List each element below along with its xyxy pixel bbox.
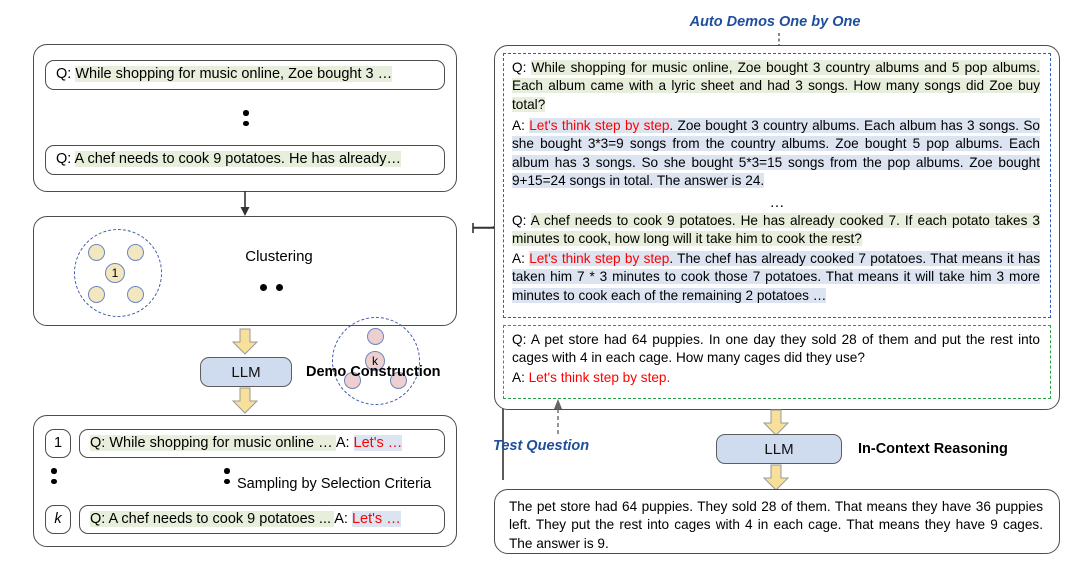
sampled-demos-ellipsis-mid [224,468,230,484]
cluster-1-node-a [88,244,105,261]
arrow-test-question-label [552,398,566,434]
demo-construction-label: Demo Construction [306,364,441,380]
test-question-dashed-box: Q: A pet store had 64 puppies. In one da… [503,325,1051,399]
demo1-question: Q: While shopping for music online, Zoe … [512,59,1040,114]
demos-ellipsis: … [504,194,1052,211]
test-question-label: Test Question [493,438,589,454]
question-pool-panel: Q: While shopping for music online, Zoe … [33,44,457,192]
sampled-demos-panel: 1 Q: While shopping for music online … A… [33,415,457,547]
sampling-label: Sampling by Selection Criteria [237,476,431,492]
cluster-1-node-c [88,286,105,303]
cluster-k-node-a [367,328,384,345]
demo-row-k-text: Q: A chef needs to cook 9 potatoes ... A… [90,510,401,530]
demo-row-1-text: Q: While shopping for music online … A: … [90,434,402,454]
question-pool-ellipsis [34,102,458,134]
llm-box-demo-construction[interactable]: LLM [200,357,292,387]
llm-box-demo-construction-label: LLM [231,364,260,381]
final-answer-panel: The pet store had 64 puppies. They sold … [494,489,1060,554]
demo-index-k-box: k [45,505,71,534]
llm-box-in-context-reasoning[interactable]: LLM [716,434,842,464]
in-context-reasoning-label: In-Context Reasoning [858,441,1008,457]
demo-row-k[interactable]: Q: A chef needs to cook 9 potatoes ... A… [79,505,445,534]
llm-box-in-context-reasoning-label: LLM [764,441,793,458]
question-pool-item-2[interactable]: Q: A chef needs to cook 9 potatoes. He h… [45,145,445,175]
clustering-label: Clustering [219,248,339,265]
clustering-panel: 1 Clustering k [33,216,457,326]
question-pool-item-1[interactable]: Q: While shopping for music online, Zoe … [45,60,445,90]
demo-index-1-box: 1 [45,429,71,458]
cluster-1: 1 [74,229,162,317]
cluster-1-node-b [127,244,144,261]
demo-index-1: 1 [54,434,62,454]
demo2-answer: A: Let's think step by step. The chef ha… [512,250,1040,305]
question-pool-item-1-text: Q: While shopping for music online, Zoe … [56,65,392,85]
arrow-pool-to-clustering [238,191,252,217]
cluster-1-node-d [127,286,144,303]
arrow-llm-to-answer [763,465,789,491]
arrow-clustering-to-llm [232,329,258,355]
generated-demos-dashed-box: Q: While shopping for music online, Zoe … [503,53,1051,318]
demo-index-k: k [54,510,61,530]
auto-demos-title: Auto Demos One by One [490,14,1060,30]
demo-row-1[interactable]: Q: While shopping for music online … A: … [79,429,445,458]
final-answer-text: The pet store had 64 puppies. They sold … [509,498,1043,553]
arrow-demos-to-llm [763,410,789,436]
sampled-demos-ellipsis-left [51,468,57,484]
test-question-answer-trigger: A: Let's think step by step. [512,369,1040,387]
demo2-question: Q: A chef needs to cook 9 potatoes. He h… [512,212,1040,249]
question-pool-item-2-text: Q: A chef needs to cook 9 potatoes. He h… [56,150,401,170]
clustering-ellipsis [260,284,283,291]
cluster-1-center: 1 [105,263,125,283]
cluster-1-label: 1 [112,266,119,280]
test-question-text: Q: A pet store had 64 puppies. In one da… [512,331,1040,368]
demo1-answer: A: Let's think step by step. Zoe bought … [512,117,1040,191]
cluster-k: k [332,317,420,405]
arrow-llm-to-demos [232,388,258,414]
